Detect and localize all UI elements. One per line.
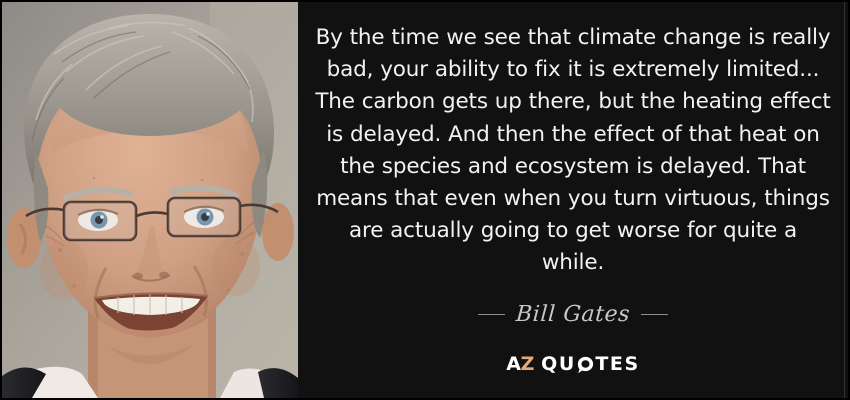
panel-edge-divider (844, 2, 845, 398)
portrait-illustration (2, 2, 298, 398)
azquotes-logo[interactable]: AZ QU TES (506, 355, 640, 374)
brand-letter-a: A (506, 353, 520, 375)
quote-panel: By the time we see that climate change i… (298, 2, 848, 398)
brand-letter-z: Z (521, 353, 534, 375)
speech-bubble-icon (577, 356, 594, 374)
brand-quotes-suffix: TES (595, 355, 639, 374)
brand-quotes-prefix: QU (541, 355, 576, 374)
quote-text: By the time we see that climate change i… (315, 22, 831, 280)
brand-quotes-word: QU TES (541, 355, 640, 374)
attribution-rule-right (641, 314, 668, 315)
attribution-rule-left (478, 314, 505, 315)
attribution: Bill Gates (478, 302, 668, 327)
author-portrait (2, 2, 298, 398)
brand-az-mark: AZ (506, 355, 534, 374)
author-name[interactable]: Bill Gates (515, 302, 631, 327)
quote-card: By the time we see that climate change i… (0, 0, 850, 400)
